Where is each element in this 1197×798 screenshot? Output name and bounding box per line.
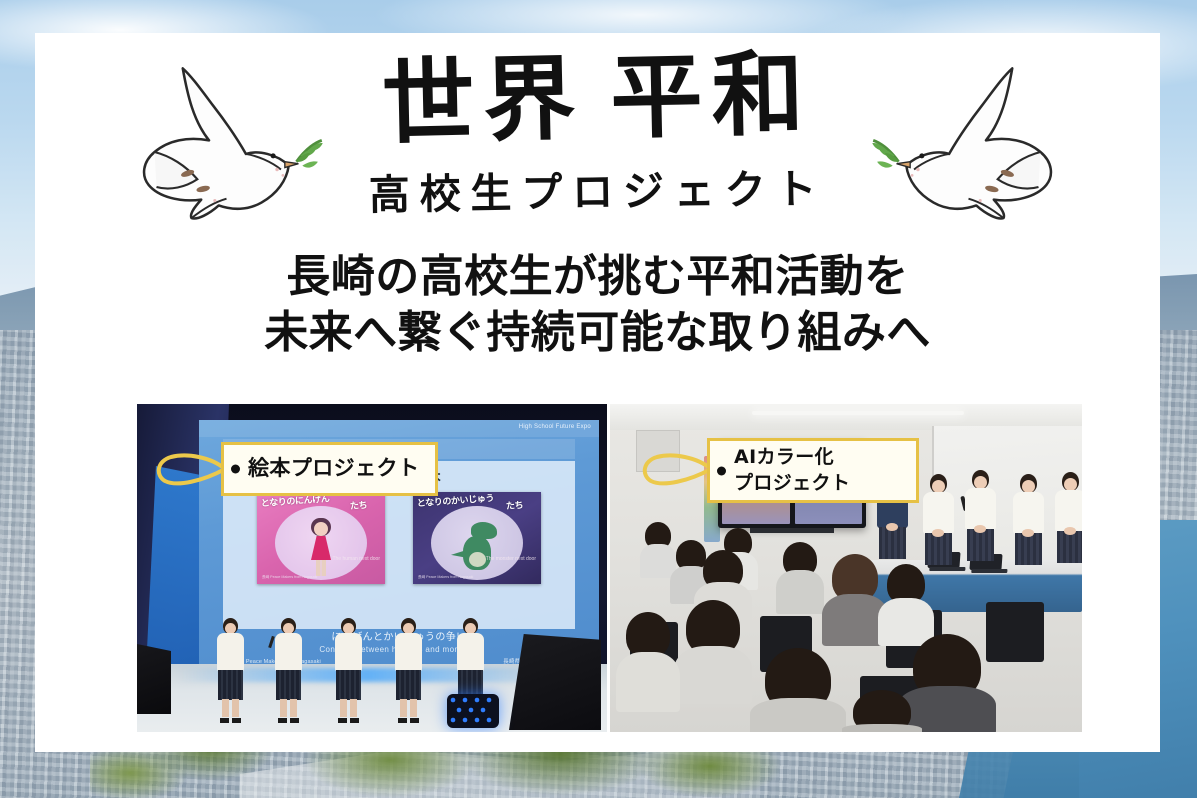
audience-member: [616, 612, 680, 712]
callout-ai-label-line1: AIカラー化: [734, 445, 900, 471]
audience-member: [674, 600, 752, 704]
book-subtitle-monster: The monster next door: [486, 556, 536, 563]
audience-member: [776, 542, 824, 614]
callout-ehon-label: 絵本プロジェクト: [248, 457, 419, 480]
presenter-student: [918, 474, 958, 578]
callout-anchor-dot: [717, 466, 726, 475]
book-credit-monster: 長崎 Peace Makers from Nagasaki: [418, 575, 473, 580]
poster-tagline: 長崎の高校生が挑む平和活動を 未来へ繋ぐ持続可能な取り組みへ: [35, 249, 1160, 362]
display-stand: [750, 528, 834, 533]
picture-book-cover-human: となりのにんげん たち The human next door 長崎 Peace…: [257, 492, 385, 584]
tagline-line-1: 長崎の高校生が挑む平和活動を: [35, 249, 1160, 305]
audience-member: [750, 648, 846, 732]
chair: [986, 602, 1044, 662]
audience-member: [842, 690, 922, 732]
poster-card: 世界平和 高校生プロジェクト 長崎の高校生が挑む平和活動を 未来へ繋ぐ持続可能な…: [35, 33, 1160, 752]
poster-title-word-2: 平和: [609, 41, 814, 152]
tagline-line-2: 未来へ繋ぐ持続可能な取り組みへ: [35, 305, 1160, 361]
callout-anchor-dot: [231, 465, 240, 474]
slide-header-text: High School Future Expo: [199, 420, 599, 437]
callout-ehon-project[interactable]: 絵本プロジェクト: [221, 442, 438, 496]
stage-speaker-right: [509, 634, 601, 730]
presenter-student-speaking: [960, 470, 1000, 574]
student-presenter: [333, 618, 363, 722]
poster-title-word-1: 世界: [381, 45, 586, 156]
picture-book-list: となりのにんげん たち The human next door 長崎 Peace…: [223, 492, 575, 584]
poster-subtitle: 高校生プロジェクト: [35, 150, 1161, 226]
poster-header: 世界平和 高校生プロジェクト: [35, 33, 1160, 233]
stage-speaker-left: [137, 644, 171, 714]
callout-ai-label-line2: プロジェクト: [734, 471, 900, 497]
student-presenter: [273, 618, 303, 722]
presenter-student: [1008, 474, 1048, 578]
title-block: 世界平和 高校生プロジェクト: [35, 51, 1160, 218]
book-illustration-monster: [455, 518, 501, 576]
book-illustration-girl: [309, 522, 333, 576]
poster-title: 世界平和: [34, 39, 1161, 159]
stage-led-light: [447, 694, 499, 728]
picture-book-cover-monster: となりのかいじゅう たち The monster next door 長崎 Pe…: [413, 492, 541, 584]
audience-member: [878, 564, 934, 646]
book-credit-human: 長崎 Peace Makers from Nagasaki: [262, 575, 317, 580]
callout-ai-color-project[interactable]: AIカラー化 プロジェクト: [707, 438, 919, 503]
presenter-student: [1050, 472, 1082, 576]
student-presenter: [393, 618, 423, 722]
student-presenter: [215, 618, 245, 722]
book-subtitle-human: The human next door: [332, 556, 380, 563]
